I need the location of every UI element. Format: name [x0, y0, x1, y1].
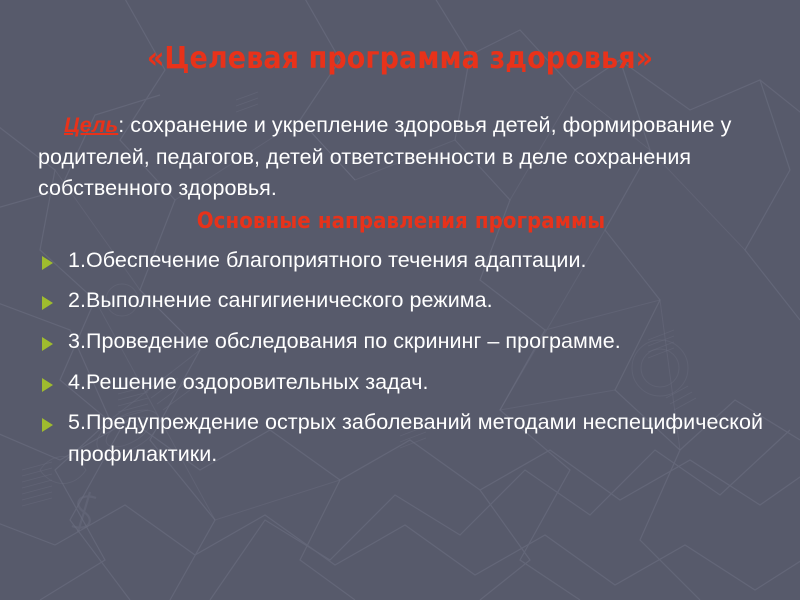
- list-item-label: 5.Предупреждение острых заболеваний мето…: [68, 410, 763, 466]
- directions-list: 1.Обеспечение благоприятного течения ада…: [38, 245, 764, 471]
- list-item: 3.Проведение обследования по скрининг – …: [38, 326, 764, 358]
- triangle-bullet-icon: [42, 378, 53, 392]
- goal-paragraph: Цель: сохранение и укрепление здоровья д…: [38, 110, 764, 205]
- triangle-bullet-icon: [42, 418, 53, 432]
- triangle-bullet-icon: [42, 296, 53, 310]
- list-item: 1.Обеспечение благоприятного течения ада…: [38, 245, 764, 277]
- slide-content: «Целевая программа здоровья» Цель: сохра…: [0, 0, 800, 600]
- list-item-label: 2.Выполнение сангигиенического режима.: [68, 288, 493, 312]
- section-heading: Основные направления программы: [38, 206, 764, 237]
- list-item-label: 1.Обеспечение благоприятного течения ада…: [68, 248, 587, 272]
- list-item: 2.Выполнение сангигиенического режима.: [38, 285, 764, 317]
- list-item: 5.Предупреждение острых заболеваний мето…: [38, 407, 764, 470]
- goal-text: сохранение и укрепление здоровья детей, …: [38, 113, 731, 200]
- triangle-bullet-icon: [42, 337, 53, 351]
- list-item: 4.Решение оздоровительных задач.: [38, 367, 764, 399]
- list-item-label: 4.Решение оздоровительных задач.: [68, 370, 429, 394]
- triangle-bullet-icon: [42, 256, 53, 270]
- list-item-label: 3.Проведение обследования по скрининг – …: [68, 329, 621, 353]
- slide-body: Цель: сохранение и укрепление здоровья д…: [38, 110, 764, 470]
- goal-separator: :: [118, 113, 130, 137]
- presentation-slide: «Целевая программа здоровья» Цель: сохра…: [0, 0, 800, 600]
- page-title: «Целевая программа здоровья»: [0, 42, 800, 77]
- goal-label: Цель: [64, 113, 118, 137]
